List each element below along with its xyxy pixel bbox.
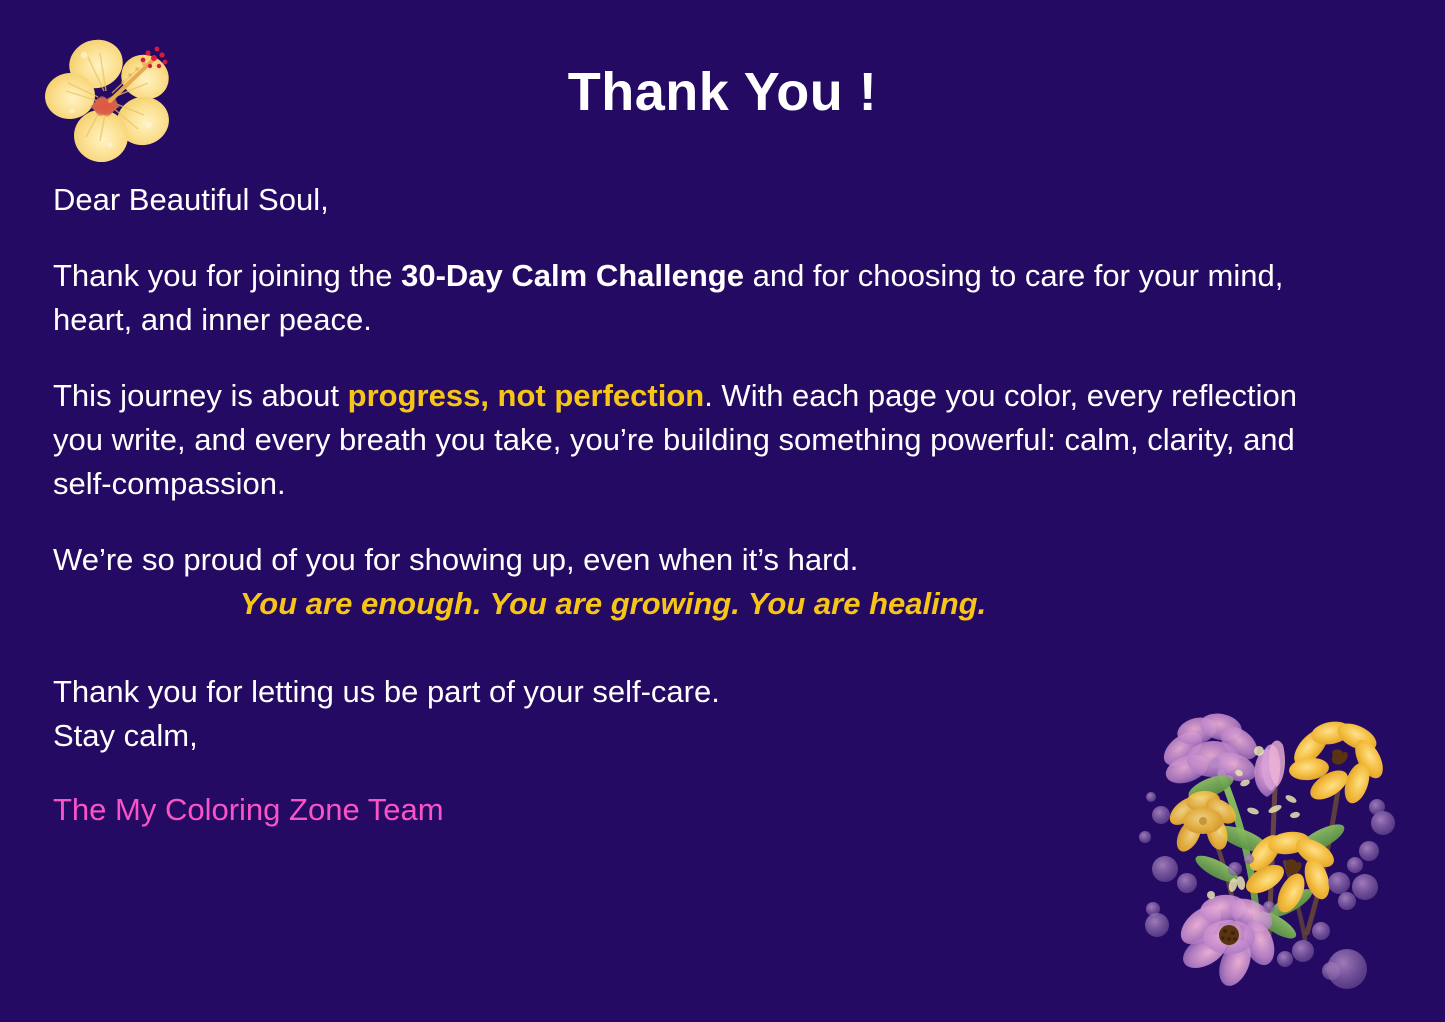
paragraph-spacer	[53, 626, 1353, 670]
affirmation-line: You are enough. You are growing. You are…	[53, 582, 1353, 626]
p2-before-text: This journey is about	[53, 378, 348, 413]
letter-paragraph-3: We’re so proud of you for showing up, ev…	[53, 538, 1353, 626]
letter-paragraph-2: This journey is about progress, not perf…	[53, 374, 1353, 506]
thank-you-card: Thank You ! Dear Beautiful Soul, Thank y…	[0, 0, 1445, 1022]
page-title: Thank You !	[0, 63, 1445, 122]
challenge-name-bold: 30-Day Calm Challenge	[401, 258, 744, 293]
progress-not-perfection-highlight: progress, not perfection	[348, 378, 705, 413]
p1-before-text: Thank you for joining the	[53, 258, 401, 293]
self-care-thanks-text: Thank you for letting us be part of your…	[53, 674, 720, 709]
letter-greeting: Dear Beautiful Soul,	[53, 178, 1353, 222]
floral-bouquet-decoration	[1125, 687, 1435, 997]
sign-off-text: Stay calm,	[53, 718, 198, 753]
greeting-text: Dear Beautiful Soul,	[53, 182, 329, 217]
letter-paragraph-1: Thank you for joining the 30-Day Calm Ch…	[53, 254, 1353, 342]
proud-of-you-text: We’re so proud of you for showing up, ev…	[53, 542, 858, 577]
